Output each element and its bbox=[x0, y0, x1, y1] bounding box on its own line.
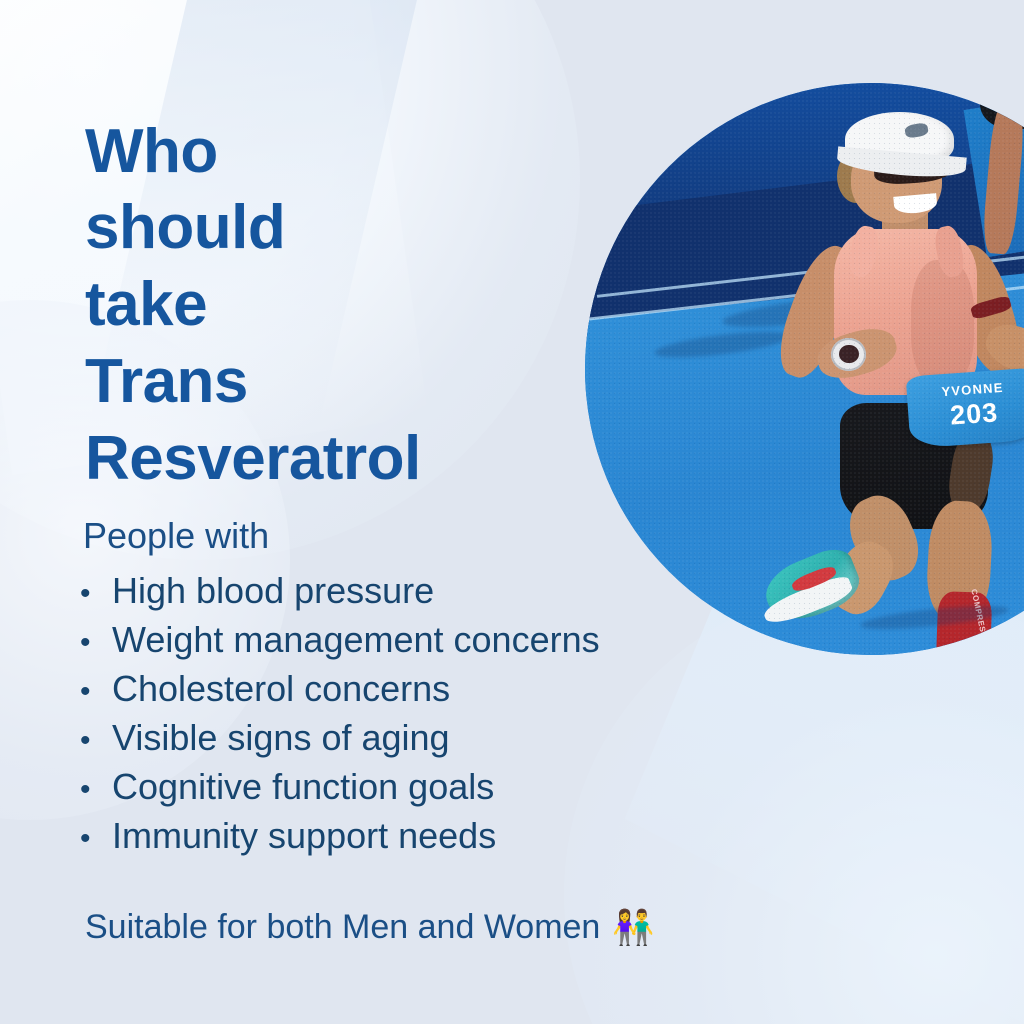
list-item: • Cholesterol concerns bbox=[80, 668, 600, 717]
page-title: Who should take Trans Resveratrol bbox=[85, 114, 555, 498]
list-item: • Cognitive function goals bbox=[80, 766, 600, 815]
suitability-note: Suitable for both Men and Women 👫 bbox=[85, 908, 655, 947]
bullet-icon: • bbox=[80, 726, 112, 756]
bullet-icon: • bbox=[80, 824, 112, 854]
list-item: • Visible signs of aging bbox=[80, 717, 600, 766]
list-item-label: High blood pressure bbox=[112, 570, 434, 612]
list-item-label: Weight management concerns bbox=[112, 619, 600, 661]
track-texture bbox=[585, 83, 1024, 655]
bullet-icon: • bbox=[80, 775, 112, 805]
bullet-icon: • bbox=[80, 579, 112, 609]
runner-photo: #BOCA bbox=[585, 83, 1024, 655]
benefits-list: • High blood pressure • Weight managemen… bbox=[80, 570, 600, 864]
list-item: • Weight management concerns bbox=[80, 619, 600, 668]
intro-label: People with bbox=[83, 518, 269, 554]
list-item-label: Visible signs of aging bbox=[112, 717, 450, 759]
couple-holding-hands-icon: 👫 bbox=[612, 911, 654, 945]
list-item-label: Cognitive function goals bbox=[112, 766, 494, 808]
list-item: • Immunity support needs bbox=[80, 815, 600, 864]
bullet-icon: • bbox=[80, 628, 112, 658]
promo-poster: Who should take Trans Resveratrol People… bbox=[0, 0, 1024, 1024]
list-item-label: Cholesterol concerns bbox=[112, 668, 450, 710]
bullet-icon: • bbox=[80, 677, 112, 707]
list-item: • High blood pressure bbox=[80, 570, 600, 619]
suitability-label: Suitable for both Men and Women bbox=[85, 908, 600, 947]
list-item-label: Immunity support needs bbox=[112, 815, 496, 857]
